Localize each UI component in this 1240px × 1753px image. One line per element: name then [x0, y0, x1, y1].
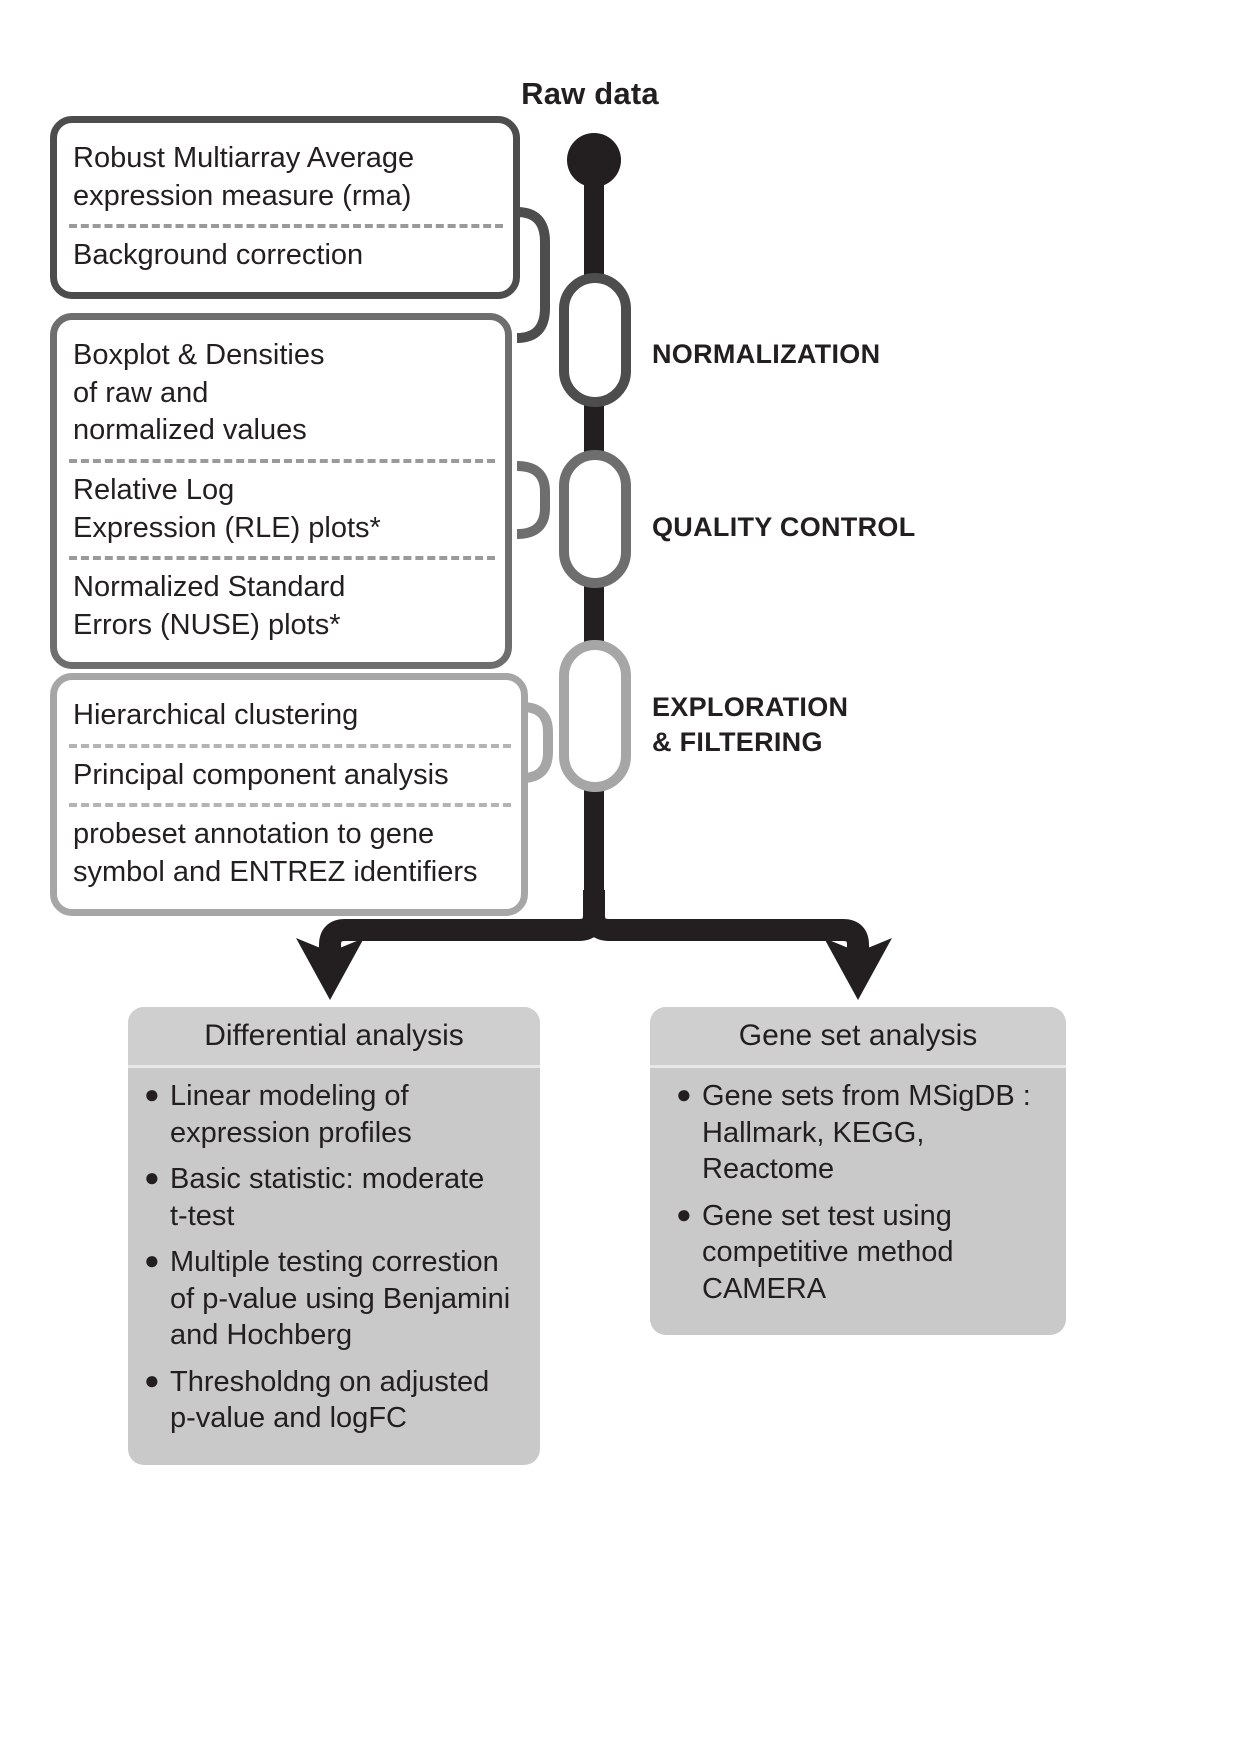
stage-row: Robust Multiarray Average expression mea… — [57, 131, 513, 224]
stage-card-normalization: Robust Multiarray Average expression mea… — [50, 116, 520, 299]
list-item-text: Gene sets from MSigDB : Hallmark, KEGG, … — [702, 1078, 1050, 1188]
stage-row: Principal component analysis — [57, 748, 521, 804]
stage-row: Background correction — [57, 228, 513, 284]
list-item: ● Gene sets from MSigDB : Hallmark, KEGG… — [676, 1078, 1050, 1188]
stage-label-exploration-filtering: EXPLORATION & FILTERING — [652, 690, 848, 760]
bullet-icon: ● — [144, 1364, 170, 1437]
output-panel-gene-set-analysis: Gene set analysis ● Gene sets from MSigD… — [650, 1007, 1066, 1335]
stage-card-quality-control: Boxplot & Densities of raw and normalize… — [50, 313, 512, 669]
list-item: ● Basic statistic: moderate t-test — [144, 1161, 524, 1234]
panel-heading: Gene set analysis — [650, 1007, 1066, 1068]
list-item: ● Linear modeling of expression profiles — [144, 1078, 524, 1151]
bullet-icon: ● — [676, 1198, 702, 1308]
list-item-text: Thresholdng on adjusted p-value and logF… — [170, 1364, 524, 1437]
output-panel-differential-analysis: Differential analysis ● Linear modeling … — [128, 1007, 540, 1465]
panel-body: ● Gene sets from MSigDB : Hallmark, KEGG… — [650, 1068, 1066, 1335]
bullet-icon: ● — [144, 1161, 170, 1234]
list-item: ● Multiple testing correstion of p-value… — [144, 1244, 524, 1354]
list-item: ● Thresholdng on adjusted p-value and lo… — [144, 1364, 524, 1437]
bullet-icon: ● — [144, 1078, 170, 1151]
stage-row: probeset annotation to gene symbol and E… — [57, 807, 521, 900]
list-item-text: Linear modeling of expression profiles — [170, 1078, 524, 1151]
stage-row: Relative Log Expression (RLE) plots* — [57, 463, 505, 556]
stage-label-quality-control: QUALITY CONTROL — [652, 510, 916, 545]
stage-label-normalization: NORMALIZATION — [652, 337, 880, 372]
bullet-icon: ● — [144, 1244, 170, 1354]
list-item-text: Multiple testing correstion of p-value u… — [170, 1244, 524, 1354]
panel-heading: Differential analysis — [128, 1007, 540, 1068]
page-title: Raw data — [460, 76, 720, 112]
list-item-text: Basic statistic: moderate t-test — [170, 1161, 524, 1234]
stage-card-exploration-filtering: Hierarchical clustering Principal compon… — [50, 673, 528, 916]
panel-body: ● Linear modeling of expression profiles… — [128, 1068, 540, 1465]
diagram-canvas: Raw data Robust Multiarray Average expre… — [0, 0, 1240, 1753]
list-item: ● Gene set test using competitive method… — [676, 1198, 1050, 1308]
bullet-icon: ● — [676, 1078, 702, 1188]
list-item-text: Gene set test using competitive method C… — [702, 1198, 1050, 1308]
stage-row: Hierarchical clustering — [57, 688, 521, 744]
stage-row: Boxplot & Densities of raw and normalize… — [57, 328, 505, 459]
stage-row: Normalized Standard Errors (NUSE) plots* — [57, 560, 505, 653]
